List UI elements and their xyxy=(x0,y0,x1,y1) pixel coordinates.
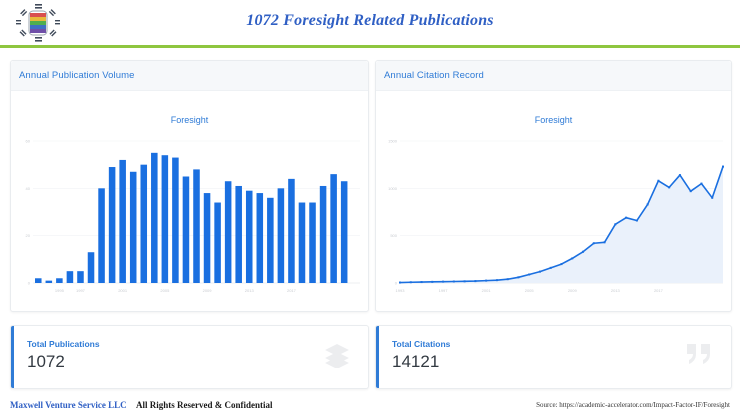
svg-text:1500: 1500 xyxy=(388,139,398,144)
footer-rights: All Rights Reserved & Confidential xyxy=(136,400,273,410)
svg-text:2013: 2013 xyxy=(245,288,255,293)
svg-text:2001: 2001 xyxy=(118,288,128,293)
card-accent-bar xyxy=(11,326,14,388)
stat-card-total-publications[interactable]: Total Publications 1072 xyxy=(10,325,369,389)
svg-text:60: 60 xyxy=(26,139,31,144)
card-label-total-citations: Total Citations xyxy=(392,339,450,349)
page-header: 1072 Foresight Related Publications xyxy=(0,0,740,45)
footer-brand: Maxwell Venture Service LLC xyxy=(10,400,127,410)
svg-text:1995: 1995 xyxy=(55,288,65,293)
svg-text:2009: 2009 xyxy=(568,288,578,293)
svg-text:1997: 1997 xyxy=(439,288,449,293)
area-chart-citations[interactable]: 0500100015001993199720012005200920132017 xyxy=(376,133,731,303)
card-accent-bar xyxy=(376,326,379,388)
svg-text:2001: 2001 xyxy=(482,288,492,293)
svg-text:1000: 1000 xyxy=(388,186,398,191)
svg-text:1993: 1993 xyxy=(396,288,406,293)
chart-title-publications: Foresight xyxy=(11,115,368,125)
panel-header-right: Annual Citation Record xyxy=(376,61,731,91)
svg-text:2005: 2005 xyxy=(160,288,170,293)
page-footer: Maxwell Venture Service LLC All Rights R… xyxy=(0,398,740,416)
svg-text:2005: 2005 xyxy=(525,288,535,293)
panel-title-citations: Annual Citation Record xyxy=(384,70,484,81)
chart-title-citations: Foresight xyxy=(376,115,731,125)
svg-text:0: 0 xyxy=(395,281,398,286)
bar-chart-publications[interactable]: 02040601995199720012005200920132017 xyxy=(11,133,368,303)
svg-text:20: 20 xyxy=(26,233,31,238)
svg-text:2009: 2009 xyxy=(203,288,213,293)
card-value-total-publications: 1072 xyxy=(27,352,65,372)
svg-text:2017: 2017 xyxy=(287,288,297,293)
card-value-total-citations: 14121 xyxy=(392,352,439,372)
footer-source: Source: https://academic-accelerator.com… xyxy=(536,401,730,409)
svg-text:40: 40 xyxy=(26,186,31,191)
card-label-total-publications: Total Publications xyxy=(27,339,100,349)
svg-text:2017: 2017 xyxy=(654,288,664,293)
panel-annual-publication-volume: Annual Publication Volume Foresight 0204… xyxy=(10,60,369,312)
panel-body-left: Foresight 020406019951997200120052009201… xyxy=(11,91,368,311)
panel-annual-citation-record: Annual Citation Record Foresight 0500100… xyxy=(375,60,732,312)
panel-body-right: Foresight 050010001500199319972001200520… xyxy=(376,91,731,311)
panel-title-publications: Annual Publication Volume xyxy=(19,70,135,81)
panel-header-left: Annual Publication Volume xyxy=(11,61,368,91)
svg-text:2013: 2013 xyxy=(611,288,621,293)
stat-card-total-citations[interactable]: Total Citations 14121 xyxy=(375,325,732,389)
quote-icon xyxy=(685,342,713,373)
layers-icon xyxy=(324,342,350,373)
svg-text:500: 500 xyxy=(390,233,397,238)
page-title: 1072 Foresight Related Publications xyxy=(0,12,740,30)
svg-text:0: 0 xyxy=(28,281,31,286)
header-divider xyxy=(0,45,740,48)
svg-text:1997: 1997 xyxy=(76,288,86,293)
